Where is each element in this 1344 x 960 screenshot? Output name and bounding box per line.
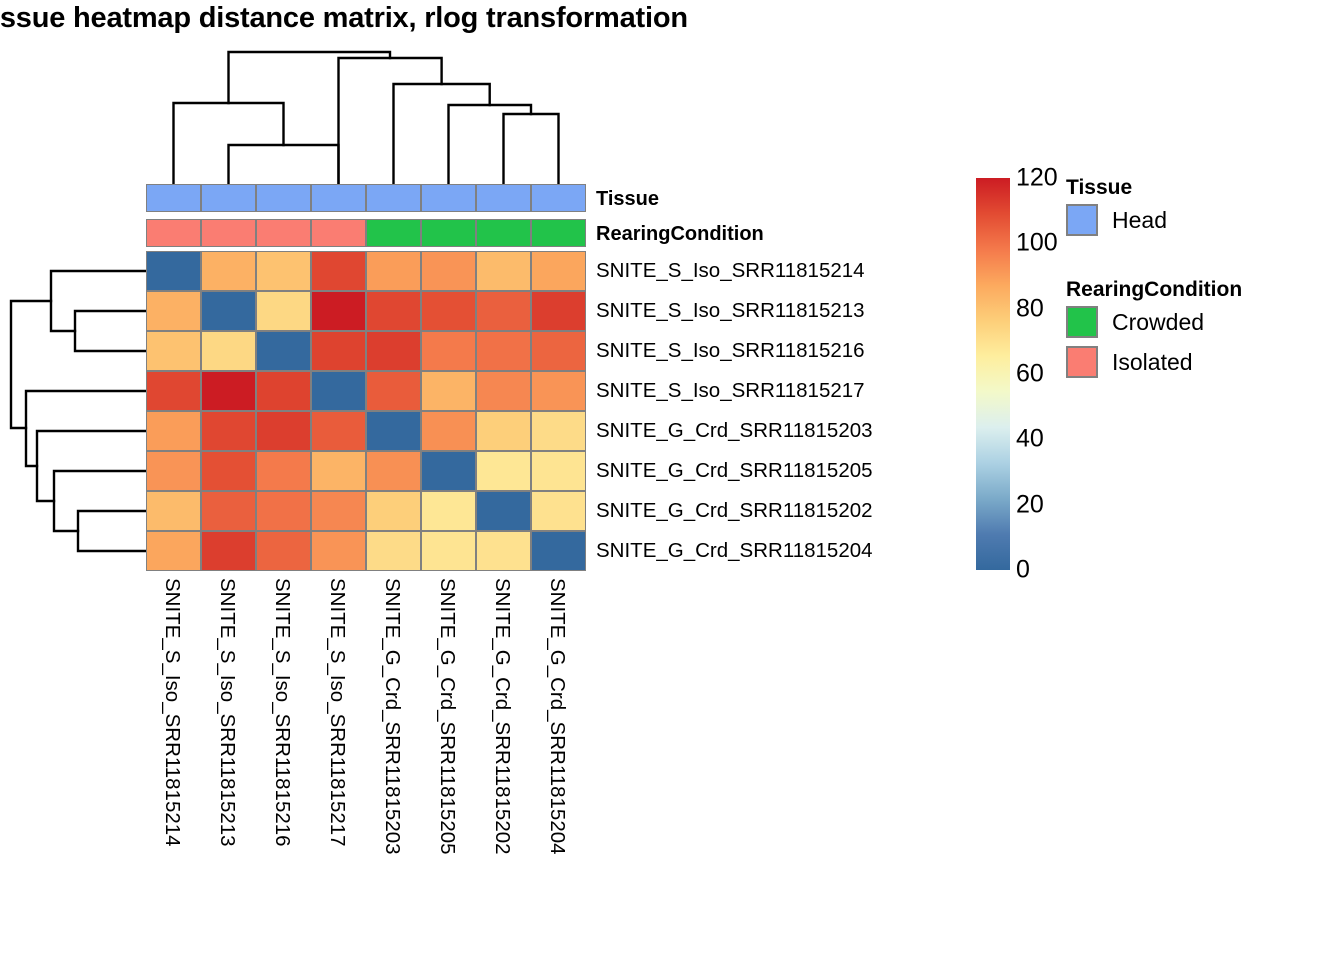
annotation-cell-tissue: [476, 184, 531, 212]
heatmap-cell: [366, 411, 421, 451]
colorbar-tick: 80: [1016, 294, 1044, 323]
heatmap-cell: [146, 491, 201, 531]
heatmap-cell: [421, 411, 476, 451]
annotation-cell-rearingcondition: [531, 219, 586, 247]
heatmap-cell: [256, 291, 311, 331]
heatmap-cell: [201, 291, 256, 331]
colorbar: [976, 178, 1010, 570]
annotation-cell-rearingcondition: [476, 219, 531, 247]
row-label: SNITE_S_Iso_SRR11815213: [596, 299, 865, 323]
legend-rearing-item[interactable]: Isolated: [1066, 346, 1193, 378]
heatmap-cell: [476, 491, 531, 531]
annotation-cell-tissue: [421, 184, 476, 212]
legend-tissue-swatch: [1066, 204, 1098, 236]
heatmap-cell: [366, 371, 421, 411]
row-label: SNITE_G_Crd_SRR11815204: [596, 539, 873, 563]
legend-title-tissue: Tissue: [1066, 176, 1132, 200]
heatmap-cell: [146, 451, 201, 491]
annotation-cell-rearingcondition: [146, 219, 201, 247]
colorbar-tick: 100: [1016, 229, 1058, 258]
row-label-list: SNITE_S_Iso_SRR11815214SNITE_S_Iso_SRR11…: [596, 251, 976, 571]
heatmap-cell: [531, 411, 586, 451]
legend-tissue-item[interactable]: Head: [1066, 204, 1167, 236]
column-label-list: SNITE_S_Iso_SRR11815214SNITE_S_Iso_SRR11…: [146, 578, 586, 958]
heatmap-cell: [256, 251, 311, 291]
heatmap-cell: [421, 251, 476, 291]
annotation-row-tissue: [146, 184, 586, 212]
row-label: SNITE_S_Iso_SRR11815214: [596, 259, 865, 283]
colorbar-gradient: [976, 178, 1010, 570]
heatmap-cell: [421, 371, 476, 411]
heatmap-cell: [531, 291, 586, 331]
annotation-label-tissue: Tissue: [596, 188, 659, 211]
colorbar-tick: 120: [1016, 164, 1058, 193]
heatmap-cell: [256, 531, 311, 571]
legend-title-rearingcondition: RearingCondition: [1066, 278, 1242, 302]
heatmap-cell: [476, 411, 531, 451]
heatmap-cell: [146, 371, 201, 411]
heatmap-cell: [256, 371, 311, 411]
heatmap-cell: [366, 491, 421, 531]
heatmap-cell: [146, 291, 201, 331]
colorbar-tick: 20: [1016, 490, 1044, 519]
heatmap-cell: [201, 371, 256, 411]
heatmap-cell: [476, 251, 531, 291]
column-label: SNITE_S_Iso_SRR11815216: [270, 578, 294, 847]
heatmap-cell: [146, 331, 201, 371]
heatmap-cell: [531, 491, 586, 531]
heatmap-cell: [531, 531, 586, 571]
column-label: SNITE_S_Iso_SRR11815217: [325, 578, 349, 847]
heatmap-cell: [476, 291, 531, 331]
row-label: SNITE_G_Crd_SRR11815205: [596, 459, 873, 483]
heatmap-cell: [476, 451, 531, 491]
annotation-cell-tissue: [146, 184, 201, 212]
heatmap-cell: [311, 451, 366, 491]
heatmap-cell: [311, 411, 366, 451]
heatmap-cell: [531, 331, 586, 371]
legend-rearing-swatch: [1066, 306, 1098, 338]
heatmap-cell: [256, 451, 311, 491]
heatmap-cell: [201, 251, 256, 291]
heatmap-cell: [421, 451, 476, 491]
row-label: SNITE_S_Iso_SRR11815216: [596, 339, 865, 363]
column-label: SNITE_G_Crd_SRR11815204: [545, 578, 569, 855]
legend-rearingcondition: CrowdedIsolated: [1066, 306, 1326, 390]
legend-rearing-swatch: [1066, 346, 1098, 378]
legend-rearing-item[interactable]: Crowded: [1066, 306, 1204, 338]
heatmap-cell: [256, 491, 311, 531]
heatmap-cell: [421, 331, 476, 371]
row-dendrogram: [8, 251, 146, 571]
heatmap-cell: [311, 251, 366, 291]
annotation-label-rearingcondition: RearingCondition: [596, 223, 764, 246]
annotation-cell-rearingcondition: [201, 219, 256, 247]
heatmap-cell: [531, 451, 586, 491]
annotation-cell-tissue: [366, 184, 421, 212]
column-label: SNITE_G_Crd_SRR11815205: [435, 578, 459, 855]
annotation-cell-tissue: [201, 184, 256, 212]
annotation-cell-tissue: [256, 184, 311, 212]
heatmap-cell: [421, 531, 476, 571]
heatmap-cell: [201, 331, 256, 371]
heatmap-cell: [146, 411, 201, 451]
heatmap-cell: [366, 331, 421, 371]
row-label: SNITE_G_Crd_SRR11815202: [596, 499, 873, 523]
annotation-cell-rearingcondition: [366, 219, 421, 247]
heatmap-cell: [256, 331, 311, 371]
heatmap-cell: [531, 371, 586, 411]
heatmap-cell: [366, 251, 421, 291]
annotation-cell-tissue: [311, 184, 366, 212]
colorbar-tick: 40: [1016, 425, 1044, 454]
colorbar-tick: 60: [1016, 360, 1044, 389]
heatmap-grid: [146, 251, 586, 571]
legend-rearing-label: Isolated: [1112, 349, 1193, 376]
column-dendrogram: [146, 52, 586, 184]
heatmap-cell: [421, 291, 476, 331]
annotation-cell-tissue: [531, 184, 586, 212]
column-label: SNITE_S_Iso_SRR11815214: [160, 578, 184, 847]
column-label: SNITE_G_Crd_SRR11815202: [490, 578, 514, 855]
heatmap-cell: [366, 291, 421, 331]
column-label: SNITE_G_Crd_SRR11815203: [380, 578, 404, 855]
row-label: SNITE_G_Crd_SRR11815203: [596, 419, 873, 443]
row-label: SNITE_S_Iso_SRR11815217: [596, 379, 865, 403]
colorbar-tick: 0: [1016, 556, 1030, 585]
heatmap-cell: [311, 371, 366, 411]
heatmap-cell: [311, 491, 366, 531]
heatmap-cell: [476, 531, 531, 571]
heatmap-cell: [146, 251, 201, 291]
heatmap-cell: [311, 291, 366, 331]
annotation-row-rearingcondition: [146, 219, 586, 247]
legend-rearing-label: Crowded: [1112, 309, 1204, 336]
heatmap-cell: [421, 491, 476, 531]
heatmap-cell: [476, 371, 531, 411]
heatmap-cell: [476, 331, 531, 371]
heatmap-cell: [311, 331, 366, 371]
annotation-cell-rearingcondition: [311, 219, 366, 247]
heatmap-cell: [201, 451, 256, 491]
column-label: SNITE_S_Iso_SRR11815213: [215, 578, 239, 847]
heatmap-cell: [366, 531, 421, 571]
heatmap-cell: [201, 491, 256, 531]
page-title: issue heatmap distance matrix, rlog tran…: [0, 2, 688, 35]
heatmap-cell: [256, 411, 311, 451]
annotation-cell-rearingcondition: [256, 219, 311, 247]
heatmap-cell: [311, 531, 366, 571]
legend-tissue-label: Head: [1112, 207, 1167, 234]
heatmap-cell: [531, 251, 586, 291]
heatmap-cell: [146, 531, 201, 571]
legend-tissue: Head: [1066, 204, 1326, 248]
annotation-cell-rearingcondition: [421, 219, 476, 247]
heatmap-cell: [366, 451, 421, 491]
heatmap-cell: [201, 531, 256, 571]
heatmap-cell: [201, 411, 256, 451]
